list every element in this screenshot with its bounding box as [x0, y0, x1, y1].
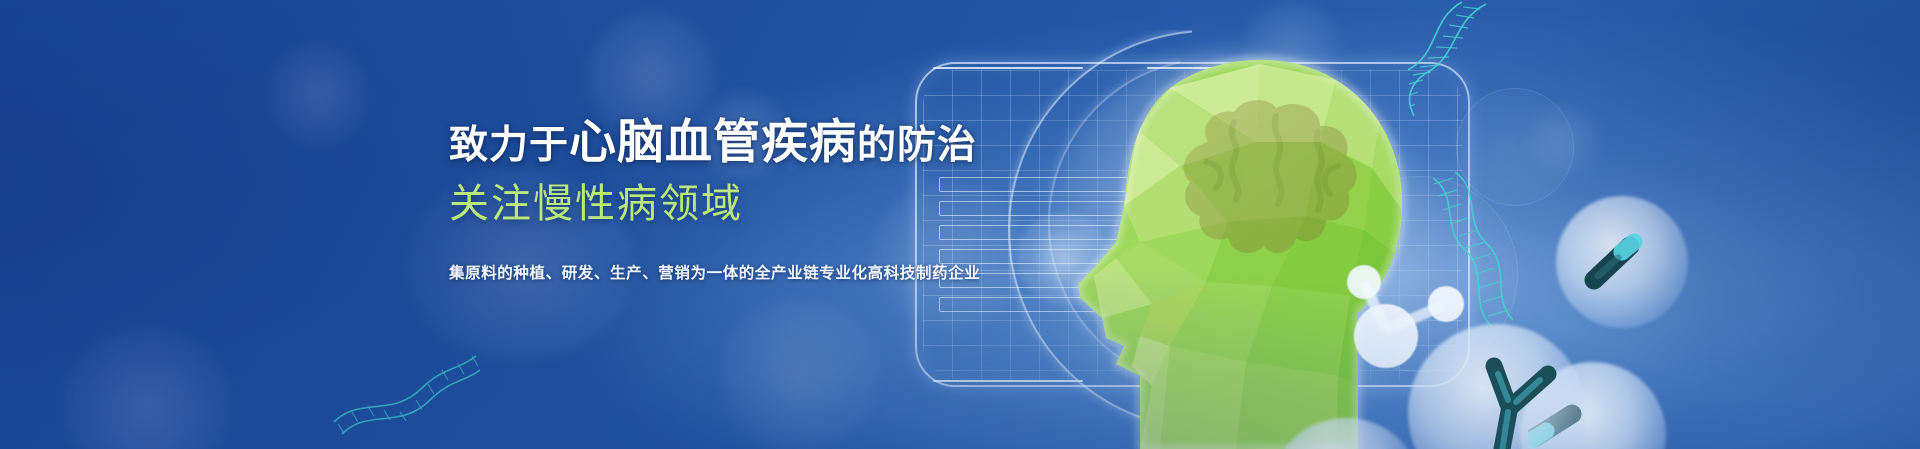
banner-tagline: 集原料的种植、研发、生产、营销为一体的全产业链专业化高科技制药企业 — [449, 261, 969, 283]
headline-highlight: 心脑血管疾病 — [569, 115, 857, 168]
headline-part-3: 的防治 — [857, 124, 977, 167]
banner-copy: 致力于心脑血管疾病的防治 关注慢性病领域 集原料的种植、研发、生产、营销为一体的… — [449, 118, 969, 283]
headline-part-1: 致力于 — [449, 124, 569, 167]
page-title: 致力于心脑血管疾病的防治 — [449, 118, 969, 165]
banner-subheading: 关注慢性病领域 — [449, 184, 969, 224]
hero-banner: 致力于心脑血管疾病的防治 关注慢性病领域 集原料的种植、研发、生产、营销为一体的… — [0, 0, 1920, 449]
